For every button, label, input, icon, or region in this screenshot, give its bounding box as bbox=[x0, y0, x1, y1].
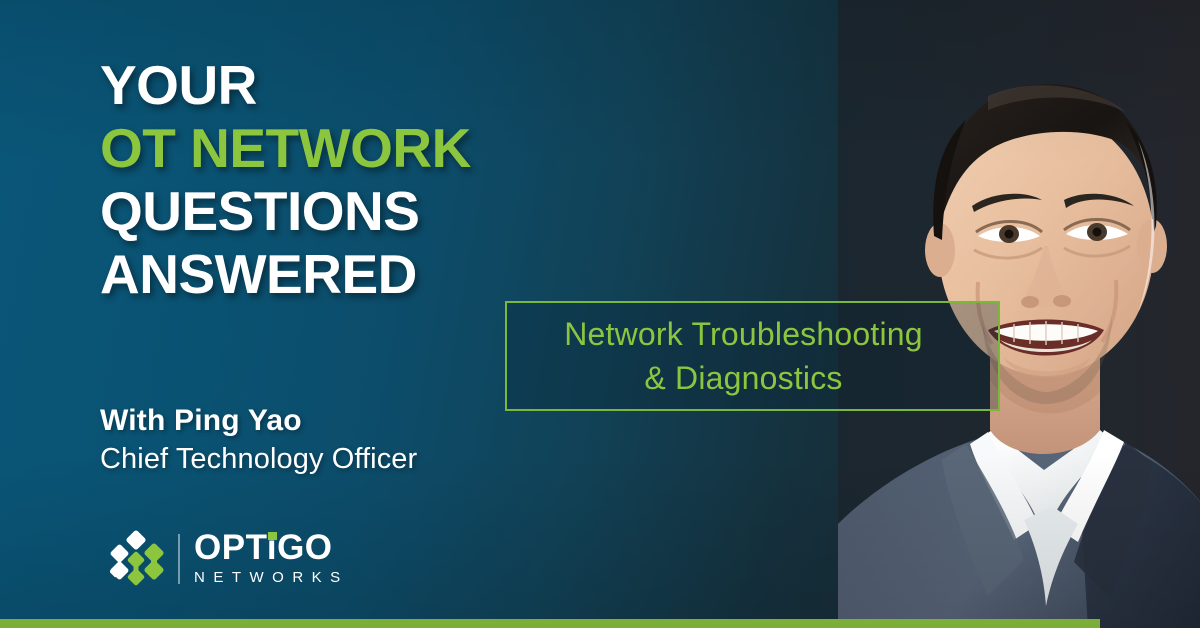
topic-line-2: & Diagnostics bbox=[521, 356, 966, 400]
headline-line-1: YOUR bbox=[100, 54, 570, 117]
topic-callout-text: Network Troubleshooting & Diagnostics bbox=[521, 312, 966, 400]
headline-line-4: ANSWERED bbox=[100, 243, 570, 306]
speaker-name: With Ping Yao bbox=[100, 402, 417, 440]
topic-line-1: Network Troubleshooting bbox=[521, 312, 966, 356]
logo-divider bbox=[178, 534, 180, 584]
speaker-title: Chief Technology Officer bbox=[100, 440, 417, 478]
logo-wordmark: OPTiGO NETWORKS bbox=[194, 530, 349, 588]
logo-i-dot-accent bbox=[268, 532, 277, 540]
page-title: YOUR OT NETWORK QUESTIONS ANSWERED bbox=[100, 54, 570, 306]
headline-line-2-highlight: OT NETWORK bbox=[100, 117, 570, 180]
logo-optigo-text: OPTiGO bbox=[194, 530, 349, 566]
optigo-diamond-mark-icon bbox=[110, 530, 166, 588]
speaker-block: With Ping Yao Chief Technology Officer bbox=[100, 402, 417, 478]
bottom-accent-bar bbox=[0, 619, 1100, 628]
logo-networks-text: NETWORKS bbox=[194, 568, 349, 588]
optigo-networks-logo: OPTiGO NETWORKS bbox=[110, 528, 349, 590]
headline-line-3: QUESTIONS bbox=[100, 180, 570, 243]
webinar-banner: YOUR OT NETWORK QUESTIONS ANSWERED Netwo… bbox=[0, 0, 1200, 628]
